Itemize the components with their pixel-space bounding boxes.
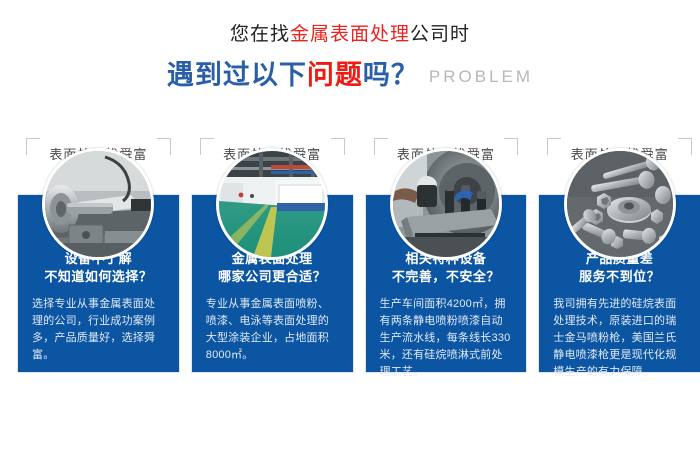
card-panel-1: 设备不了解 不知道如何选择？ 选择专业从事金属表面处理的公司，行业成功案例多，产… <box>18 195 179 372</box>
card-body-1: 选择专业从事金属表面处理的公司，行业成功案例多，产品质量好，选择舜富。 <box>32 296 165 364</box>
title-highlight: 金属表面处理 <box>290 24 410 45</box>
fasteners-bolts-photo <box>564 148 676 260</box>
card-heading-line2: 不知道如何选择？ <box>24 268 173 286</box>
problem-card-2[interactable]: 表面处理找舜富 <box>192 138 353 372</box>
page-header: 您在找金属表面处理公司时 遇到过以下问题吗？PROBLEM <box>0 0 700 97</box>
page-title-line1: 您在找金属表面处理公司时 <box>0 22 700 48</box>
subtitle-blue-b: 吗？ <box>363 60 419 90</box>
cnc-tooling-photo <box>390 148 502 260</box>
problem-card-4[interactable]: 表面处理找舜富 <box>539 138 700 372</box>
subtitle-english: PROBLEM <box>429 67 533 86</box>
card-panel-3: 相关特种设备 不完善，不安全？ 生产车间面积4200㎡，拥有两条静电喷粉喷漆自动… <box>366 195 527 372</box>
card-panel-4: 产品质量差 服务不到位？ 我司拥有先进的硅烷表面处理技术，原装进口的瑞士金马喷粉… <box>539 195 700 372</box>
card-heading-line2: 不完善，不安全？ <box>372 268 521 286</box>
card-heading-line2: 服务不到位？ <box>545 268 694 286</box>
card-heading-line2: 哪家公司更合适？ <box>198 268 347 286</box>
title-prefix: 您在找 <box>230 24 290 45</box>
subtitle-red: 问题 <box>307 60 363 90</box>
problem-cards-row: 表面处理找舜富 <box>0 138 700 372</box>
card-panel-2: 金属表面处理 哪家公司更合适？ 专业从事金属表面喷粉、喷漆、电泳等表面处理的大型… <box>192 195 353 372</box>
subtitle-blue-a: 遇到过以下 <box>167 60 307 90</box>
problem-card-3[interactable]: 表面处理找舜富 <box>366 138 527 372</box>
title-suffix: 公司时 <box>410 24 470 45</box>
card-body-4: 我司拥有先进的硅烷表面处理技术，原装进口的瑞士金马喷粉枪，美国兰氏静电喷漆枪更是… <box>553 296 686 381</box>
problem-card-1[interactable]: 表面处理找舜富 <box>18 138 179 372</box>
lathe-machining-photo <box>42 148 154 260</box>
factory-corridor-photo <box>216 148 328 260</box>
card-body-2: 专业从事金属表面喷粉、喷漆、电泳等表面处理的大型涂装企业，占地面积8000㎡。 <box>206 296 339 364</box>
card-body-3: 生产车间面积4200㎡，拥有两条静电喷粉喷漆自动生产流水线，每条线长330米，还… <box>380 296 513 381</box>
page-title-line2: 遇到过以下问题吗？PROBLEM <box>0 58 700 97</box>
